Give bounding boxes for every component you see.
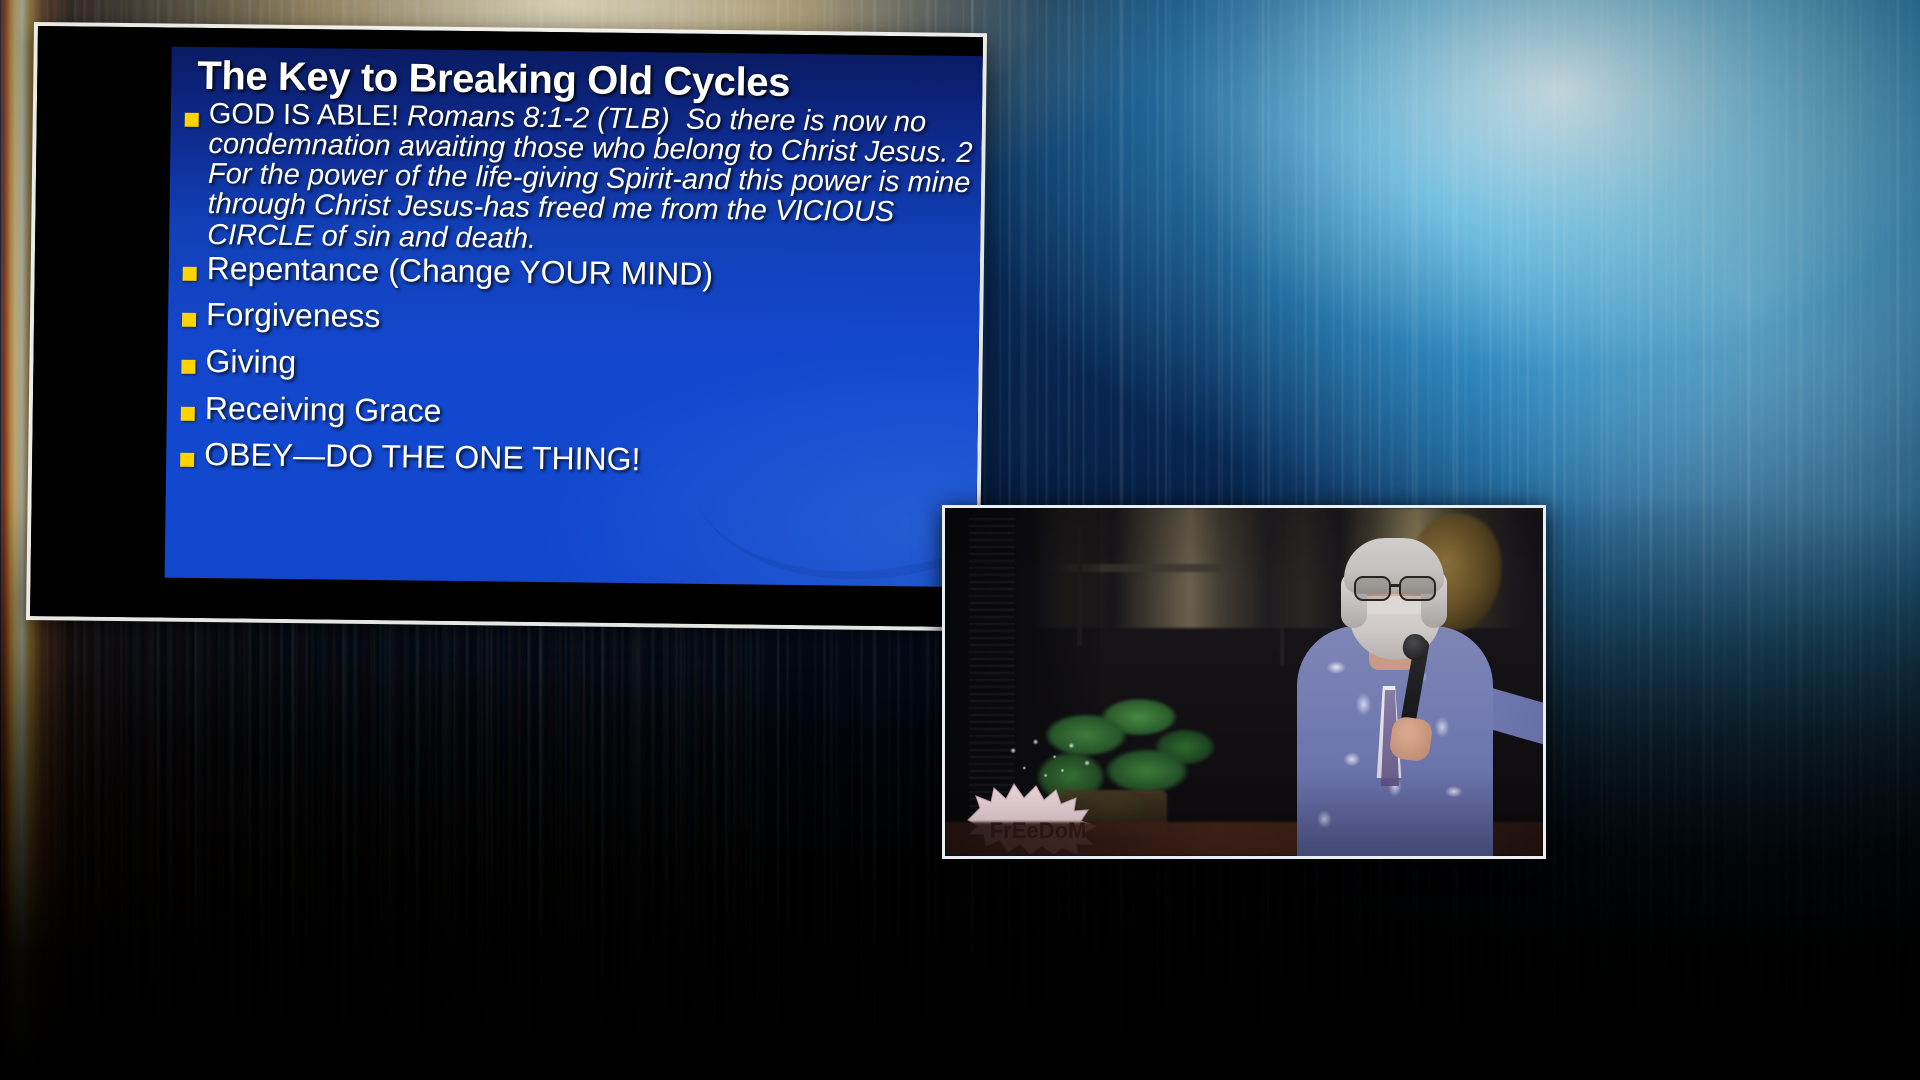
speaker-video-inset: FrEeDoM: [942, 505, 1546, 859]
broadcast-frame: The Key to Breaking Old Cycles GOD IS AB…: [0, 0, 1920, 1080]
slide-bullet-item: Repentance (Change YOUR MIND): [177, 251, 976, 293]
slide-bullet-item: GOD IS ABLE! Romans 8:1-2 (TLB) So there…: [177, 99, 978, 259]
verse-lead: GOD IS ABLE!: [209, 98, 400, 132]
speaker-left-hand: [1388, 715, 1433, 762]
bullet-square-icon: [180, 453, 194, 467]
slide-bullet-item: Receiving Grace: [175, 391, 974, 433]
speaker-video-content: FrEeDoM: [945, 508, 1543, 856]
glasses-icon: [1353, 576, 1437, 598]
slide-bullet-item: OBEY—DO THE ONE THING!: [174, 438, 973, 480]
bullet-square-icon: [181, 406, 195, 420]
slide-bullet-item: Giving: [175, 345, 974, 387]
slide-bullet-text: GOD IS ABLE! Romans 8:1-2 (TLB) So there…: [207, 99, 978, 259]
slide-bullet-text: Receiving Grace: [205, 392, 974, 434]
bullet-square-icon: [185, 113, 199, 127]
bullet-square-icon: [181, 360, 195, 374]
slide-bullet-text: Repentance (Change YOUR MIND): [207, 252, 976, 294]
bullet-square-icon: [182, 313, 196, 327]
projection-screen: The Key to Breaking Old Cycles GOD IS AB…: [30, 26, 983, 627]
speaker-figure: [1245, 526, 1543, 856]
slide-bullet-text: Giving: [205, 345, 974, 387]
slide-bullet-list: GOD IS ABLE! Romans 8:1-2 (TLB) So there…: [174, 99, 978, 494]
bullet-square-icon: [183, 267, 197, 281]
projection-screen-black-matte: The Key to Breaking Old Cycles GOD IS AB…: [30, 26, 983, 627]
glasses-right-lens: [1399, 576, 1436, 601]
slide-bullet-text: Forgiveness: [206, 298, 975, 340]
glasses-left-lens: [1354, 576, 1391, 601]
presentation-slide: The Key to Breaking Old Cycles GOD IS AB…: [165, 47, 983, 588]
slide-bullet-item: Forgiveness: [176, 298, 975, 340]
slide-bullet-text: OBEY—DO THE ONE THING!: [204, 438, 973, 480]
